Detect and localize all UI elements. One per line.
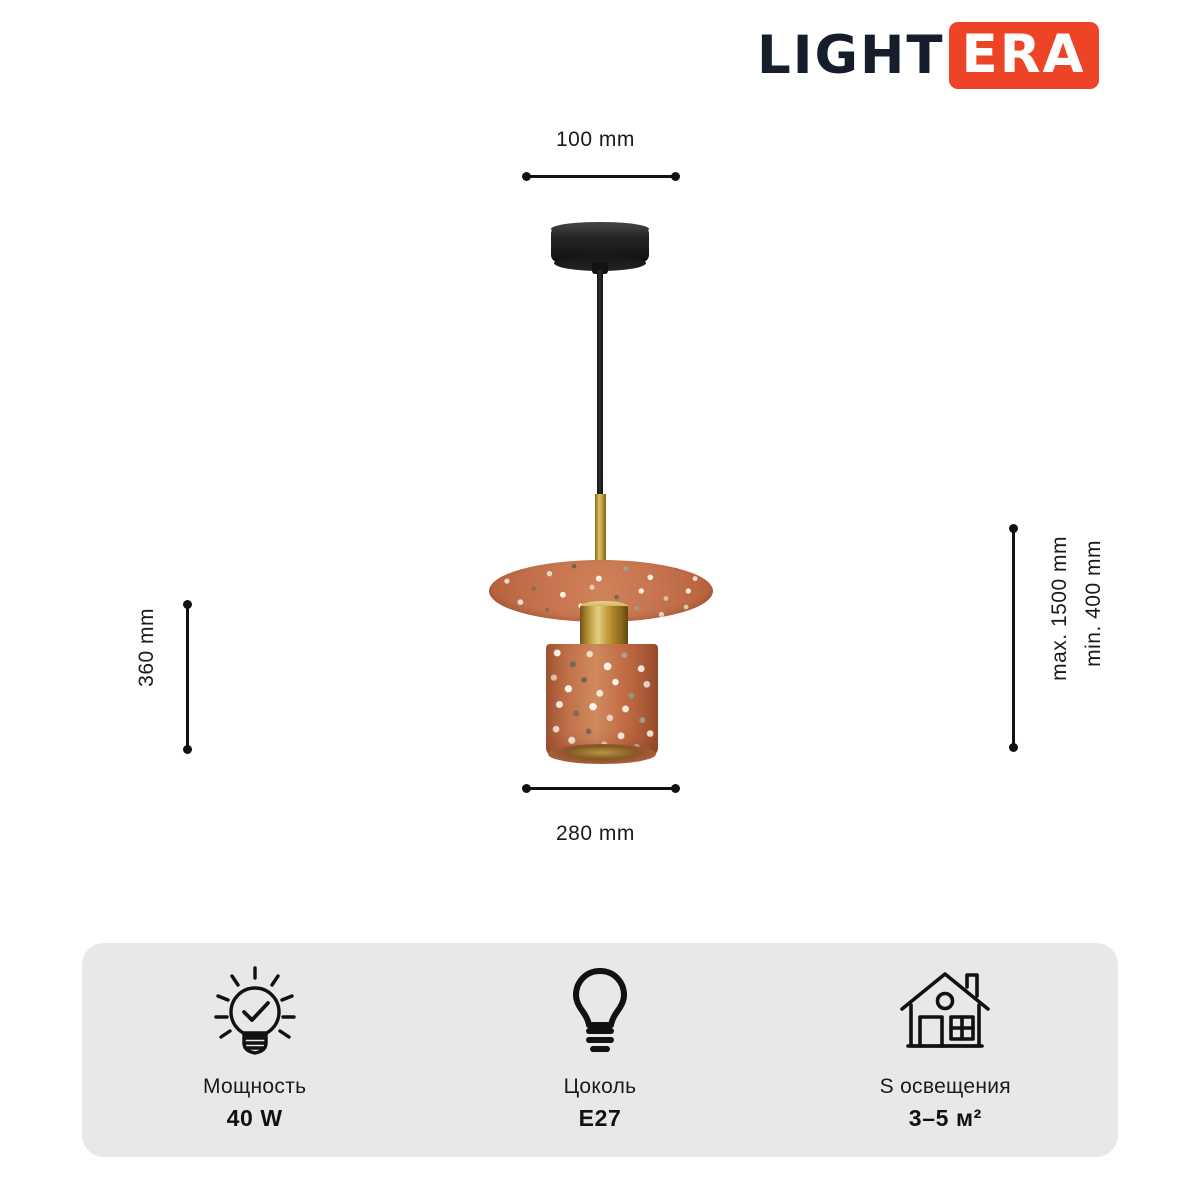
product-image-pendant-lamp bbox=[0, 0, 1200, 940]
spec-column-socket: Цоколь E27 bbox=[427, 965, 772, 1135]
spec-label-power: Мощность bbox=[203, 1073, 306, 1101]
house-icon bbox=[897, 965, 993, 1057]
terrazzo-shade bbox=[546, 644, 658, 756]
spec-value-area: 3–5 м² bbox=[909, 1102, 982, 1135]
spec-label-socket: Цоколь bbox=[564, 1073, 637, 1101]
product-spec-sheet: LIGHT ERA 100 mm 360 mm max. 1500 mm min… bbox=[0, 0, 1200, 1200]
bulb-icon bbox=[565, 965, 635, 1057]
spec-value-power: 40 W bbox=[227, 1102, 283, 1135]
bulb-check-icon bbox=[212, 965, 298, 1057]
shade-inner-socket bbox=[566, 746, 638, 759]
spec-column-power: Мощность 40 W bbox=[82, 965, 427, 1135]
spec-column-area: S освещения 3–5 м² bbox=[773, 965, 1118, 1135]
specification-panel: Мощность 40 W Цоколь E27 bbox=[82, 943, 1118, 1157]
suspension-cord bbox=[597, 270, 603, 498]
spec-value-socket: E27 bbox=[579, 1102, 622, 1135]
spec-label-area: S освещения bbox=[880, 1073, 1011, 1101]
